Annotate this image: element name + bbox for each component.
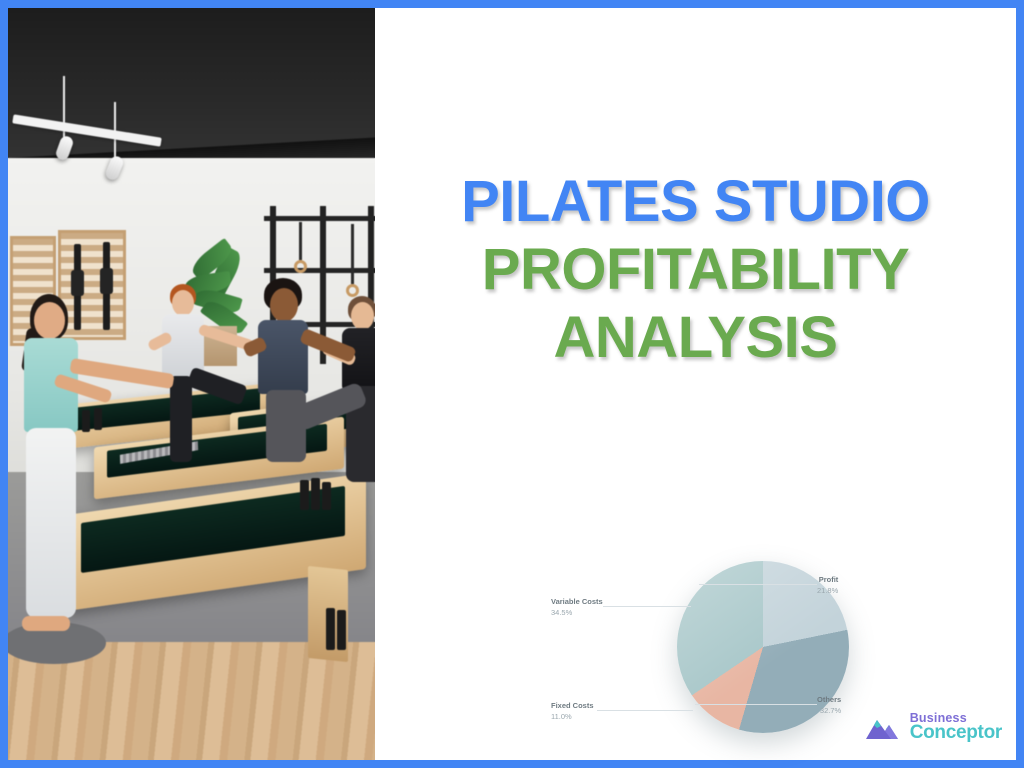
- leg: [170, 376, 192, 462]
- pie-label-name: Fixed Costs: [551, 701, 594, 712]
- pie-label-profit: Profit 21.8%: [817, 575, 838, 597]
- title-line-2: PROFITABILITY: [375, 236, 1016, 304]
- leg: [186, 367, 247, 406]
- pie-label-value: 21.8%: [817, 586, 838, 597]
- rig-bar: [264, 268, 375, 273]
- wall-strap-handle: [71, 270, 84, 296]
- head: [34, 302, 65, 339]
- leader-line: [699, 584, 817, 585]
- pie-label-value: 32.7%: [817, 706, 841, 717]
- title-line-1: PILATES STUDIO: [375, 168, 1016, 236]
- logo-bottom-word: Conceptor: [910, 723, 1002, 742]
- rig-strap: [351, 224, 354, 284]
- person-center: [248, 278, 353, 508]
- pie-label-fixed-costs: Fixed Costs 11.0%: [551, 701, 594, 723]
- business-conceptor-logo[interactable]: Business Conceptor: [865, 712, 1002, 742]
- leader-line: [603, 606, 691, 607]
- pie-label-name: Variable Costs: [551, 597, 603, 608]
- pie-label-variable-costs: Variable Costs 34.5%: [551, 597, 603, 619]
- head: [172, 290, 194, 316]
- studio-photo: [8, 8, 375, 760]
- reformer-block: [337, 610, 346, 650]
- pie-label-value: 34.5%: [551, 608, 603, 619]
- title-line-3: ANALYSIS: [375, 304, 1016, 372]
- leader-line: [695, 704, 817, 705]
- head: [270, 288, 298, 322]
- legs: [26, 428, 76, 618]
- content-panel: PILATES STUDIO PROFITABILITY ANALYSIS Pr…: [375, 8, 1016, 760]
- torso: [258, 320, 308, 394]
- person-instructor: [12, 294, 108, 674]
- leader-line: [597, 710, 693, 711]
- rig-bar: [264, 216, 375, 221]
- pie-label-value: 11.0%: [551, 712, 594, 723]
- gymnastic-ring-icon: [294, 260, 307, 273]
- pie-label-others: Others 32.7%: [817, 695, 841, 717]
- wall-strap-handle: [100, 268, 113, 294]
- head: [351, 302, 374, 330]
- mountain-icon: [865, 712, 907, 742]
- pie-label-name: Others: [817, 695, 841, 706]
- page-title: PILATES STUDIO PROFITABILITY ANALYSIS: [375, 168, 1016, 372]
- rig-strap: [299, 222, 302, 260]
- pie-label-name: Profit: [817, 575, 838, 586]
- logo-wordmark: Business Conceptor: [910, 712, 1002, 742]
- slide-root: PILATES STUDIO PROFITABILITY ANALYSIS Pr…: [0, 0, 1024, 768]
- reformer-block: [326, 608, 335, 650]
- foot: [22, 616, 70, 631]
